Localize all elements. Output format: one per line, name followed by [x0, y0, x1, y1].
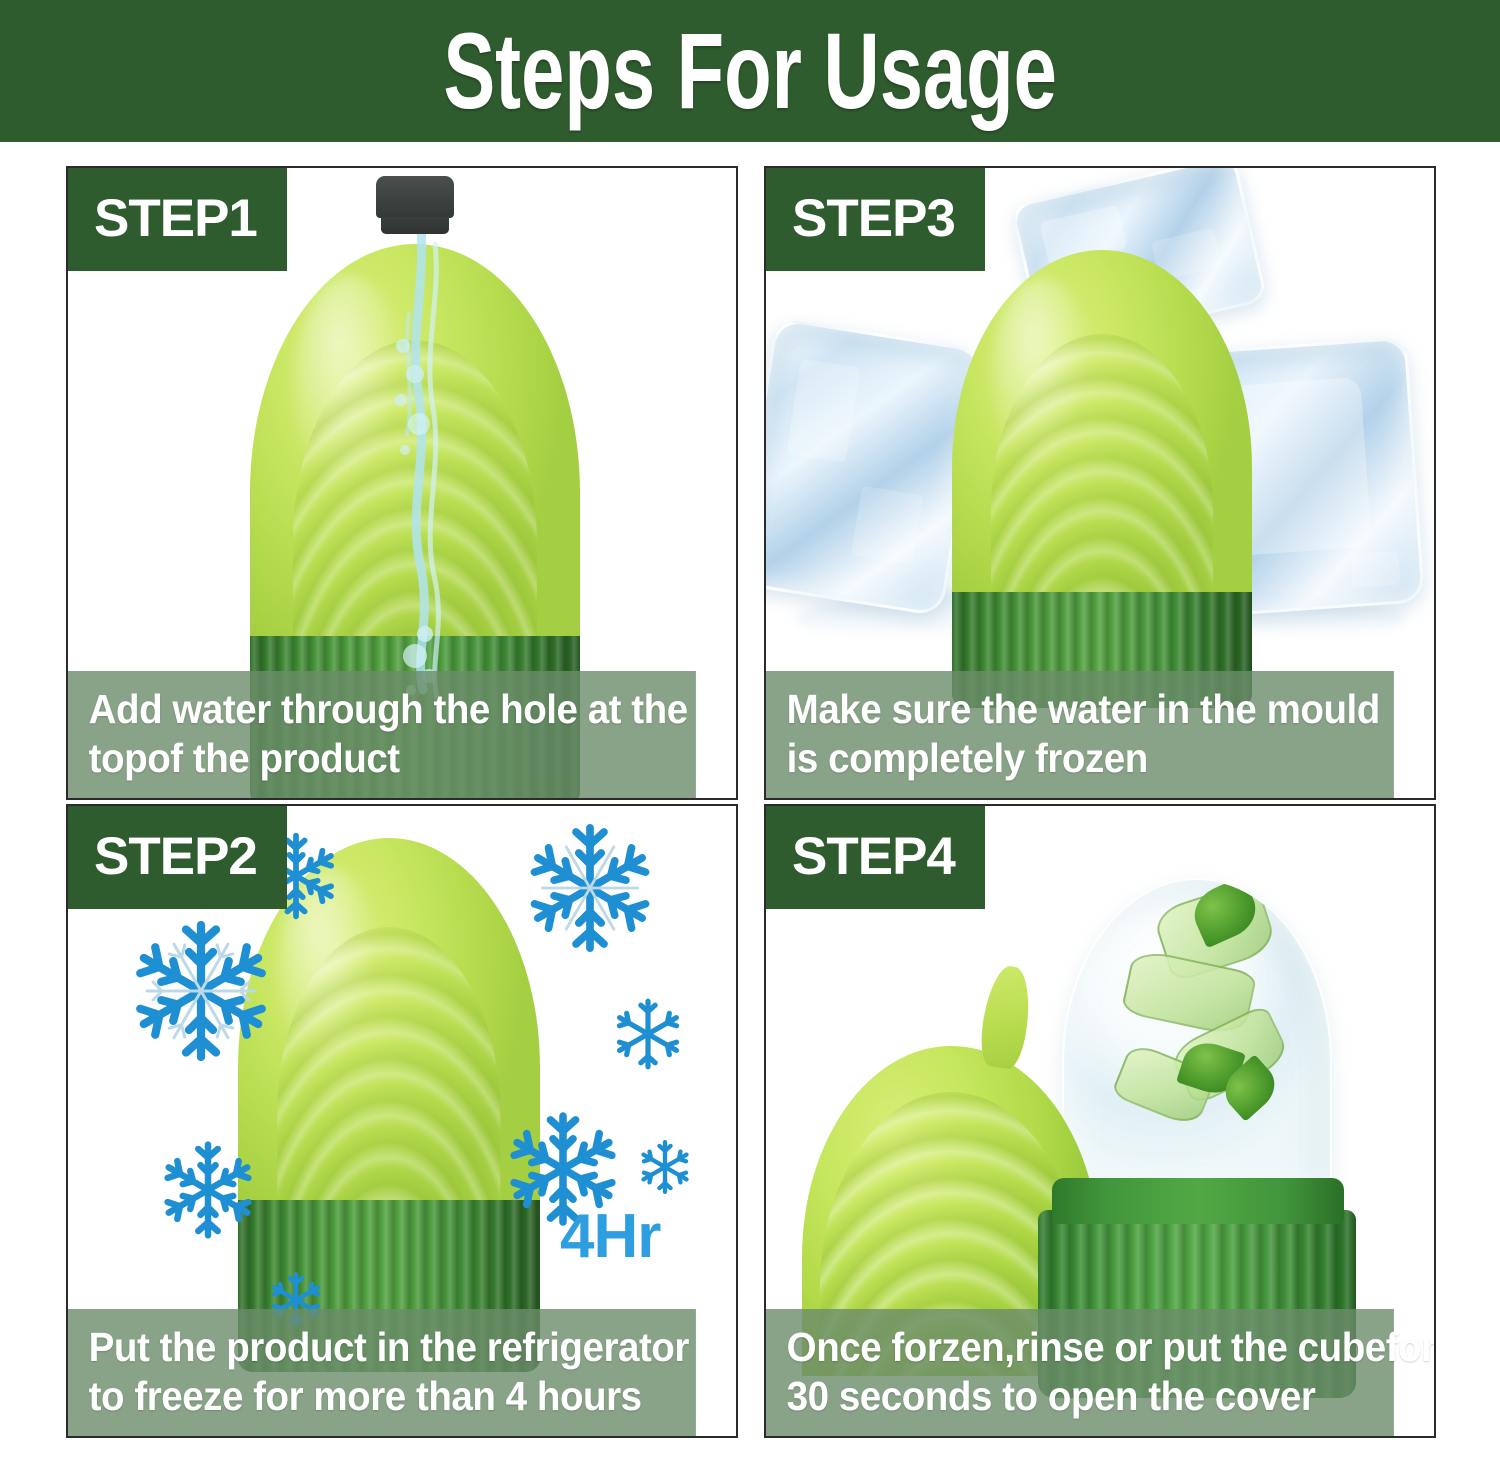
caption-line: Make sure the water in the mould [787, 685, 1377, 733]
caption-line: topof the product [89, 734, 679, 782]
caption-line: 30 seconds to open the cover [787, 1372, 1377, 1420]
step-caption-2: Put the product in the refrigerator to f… [68, 1309, 696, 1436]
caption-line: Put the product in the refrigerator [89, 1323, 679, 1371]
caption-line: Add water through the hole at the [89, 685, 679, 733]
step-panel-3: STEP3 Make sure the water in the mould i… [764, 166, 1436, 800]
cover-tab-icon [977, 963, 1035, 1070]
step-badge-3: STEP3 [766, 168, 985, 271]
snowflake-icon [608, 994, 688, 1074]
step-caption-1: Add water through the hole at the topof … [68, 671, 696, 798]
step-panel-4: STEP4 Once forzen,rinse or put the cubef… [764, 804, 1436, 1438]
steps-for-usage-infographic: Steps For Usage [0, 0, 1500, 1467]
header-band: Steps For Usage [0, 0, 1500, 142]
caption-line: Once forzen,rinse or put the cubefor [787, 1323, 1377, 1371]
ice-dome-icon [1062, 878, 1332, 1196]
freeze-duration-label: 4Hr [560, 1206, 660, 1268]
caption-line: to freeze for more than 4 hours [89, 1372, 679, 1420]
caption-line: is completely frozen [787, 734, 1377, 782]
step-badge-1: STEP1 [68, 168, 287, 271]
steps-grid: STEP1 Add water through the hole at the … [66, 166, 1436, 1438]
step-badge-4: STEP4 [766, 806, 985, 909]
snowflake-icon [126, 916, 276, 1066]
step-caption-3: Make sure the water in the mould is comp… [766, 671, 1394, 798]
plug-icon [376, 176, 454, 234]
snowflake-icon [634, 1136, 696, 1198]
page-title: Steps For Usage [443, 17, 1057, 125]
snowflake-icon [520, 818, 660, 958]
step-caption-4: Once forzen,rinse or put the cubefor 30 … [766, 1309, 1394, 1436]
base-collar [1052, 1178, 1344, 1224]
snowflake-icon [154, 1136, 262, 1244]
step-panel-1: STEP1 Add water through the hole at the … [66, 166, 738, 800]
step-panel-2: 4Hr STEP2 Put the product in the refrige… [66, 804, 738, 1438]
capsule-icon [952, 250, 1252, 706]
step-badge-2: STEP2 [68, 806, 287, 909]
